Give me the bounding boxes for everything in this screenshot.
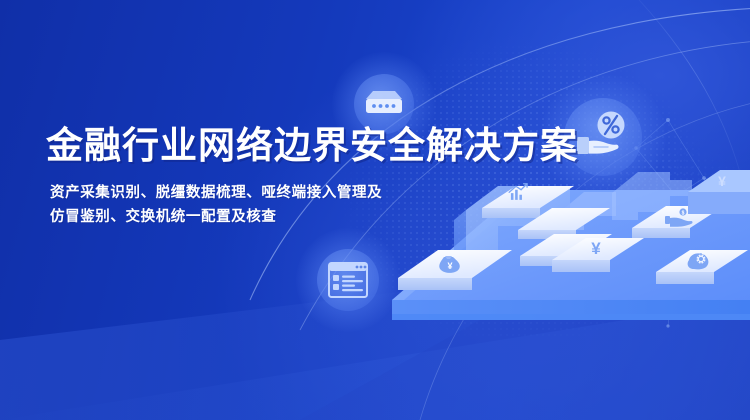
yen-icon: ¥	[591, 239, 601, 258]
page-title: 金融行业网络边界安全解决方案	[46, 124, 578, 168]
yen-icon: ¥	[718, 173, 726, 189]
block-yen-raised[interactable]: ¥	[688, 170, 750, 214]
svg-text:¥: ¥	[447, 261, 452, 271]
subtitle-line-1: 资产采集识别、脱缰数据梳理、哑终端接入管理及	[50, 182, 578, 204]
svg-text:$: $	[682, 211, 685, 217]
banner-root: ¥ ¥ $	[0, 0, 750, 420]
headline-group: 金融行业网络边界安全解决方案 资产采集识别、脱缰数据梳理、哑终端接入管理及 仿冒…	[46, 124, 578, 228]
server-icon	[361, 87, 407, 121]
subtitle-line-2: 仿冒鉴别、交换机统一配置及核查	[50, 206, 578, 228]
hand-percent-icon	[572, 109, 634, 165]
document-window-icon	[327, 261, 369, 299]
